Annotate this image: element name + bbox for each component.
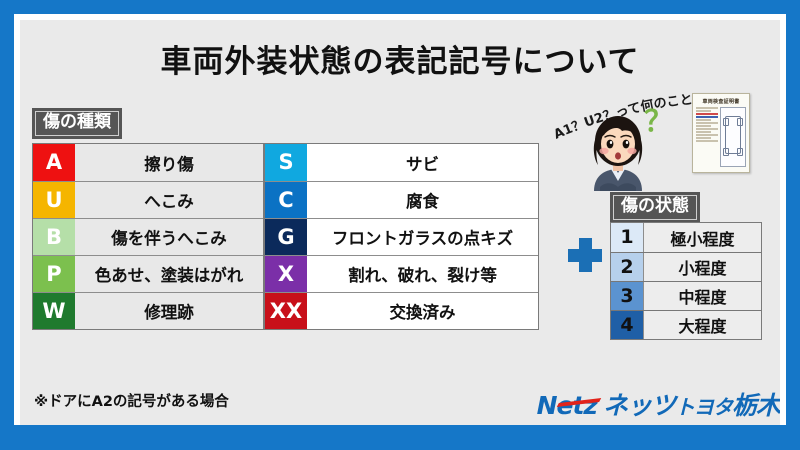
description-cell: 腐食: [307, 182, 538, 218]
inspection-certificate-thumbnail: 車両検査証明書: [692, 93, 750, 173]
netz-toyota-tochigi-logo: Netz ネッツトヨタ栃木: [532, 388, 780, 422]
table-row: XX 交換済み: [265, 292, 538, 329]
table-row: 1 極小程度: [611, 223, 761, 252]
certificate-title: 車両検査証明書: [696, 98, 746, 105]
certificate-body: [696, 107, 746, 167]
section-badge-damage-kind: 傷の種類: [32, 108, 122, 139]
symbol-cell: 1: [611, 223, 644, 252]
table-row: U へこみ: [33, 181, 263, 218]
symbol-cell: 3: [611, 282, 644, 310]
table-row: G フロントガラスの点キズ: [265, 218, 538, 255]
netz-brand-text: Netz: [537, 393, 597, 418]
table-row: P 色あせ、塗装はがれ: [33, 255, 263, 292]
description-cell: 極小程度: [644, 223, 761, 252]
table-row: A 擦り傷: [33, 144, 263, 181]
description-cell: 割れ、破れ、裂け等: [307, 256, 538, 292]
dealer-name-region: 栃木: [732, 391, 780, 420]
symbol-cell: S: [265, 144, 307, 181]
description-cell: 大程度: [644, 311, 761, 339]
slide-canvas: 車両外装状態の表記記号について A1？U2？って何のこと？ ？: [20, 20, 780, 425]
description-cell: へこみ: [75, 182, 263, 218]
section-badge-damage-state: 傷の状態: [610, 192, 700, 223]
illustration-group: A1？U2？って何のこと？ ？: [540, 75, 780, 190]
damage-degree-table: 1 極小程度 2 小程度 3 中程度 4 大程度: [610, 222, 762, 340]
symbol-cell: G: [265, 219, 307, 255]
dealer-name-kana: ネッツ: [603, 391, 675, 420]
table-row: B 傷を伴うへこみ: [33, 218, 263, 255]
description-cell: サビ: [307, 144, 538, 181]
symbol-cell: 2: [611, 253, 644, 281]
symbol-cell: X: [265, 256, 307, 292]
symbol-cell: W: [33, 293, 75, 329]
plus-icon: [568, 238, 602, 272]
symbol-cell: P: [33, 256, 75, 292]
certificate-left-column: [696, 107, 718, 167]
certificate-car-diagram: [720, 107, 746, 167]
symbol-cell: 4: [611, 311, 644, 339]
damage-kind-table: A 擦り傷 U へこみ B 傷を伴うへこみ P 色あせ、塗装はがれ W 修理跡: [32, 143, 264, 330]
table-row: 4 大程度: [611, 310, 761, 339]
description-cell: 交換済み: [307, 293, 538, 329]
description-cell: 擦り傷: [75, 144, 263, 181]
slide-frame: 車両外装状態の表記記号について A1？U2？って何のこと？ ？: [0, 0, 800, 450]
symbol-cell: A: [33, 144, 75, 181]
person-illustration: [580, 113, 656, 191]
symbol-cell: XX: [265, 293, 307, 329]
table-row: 3 中程度: [611, 281, 761, 310]
damage-type-table: S サビ C 腐食 G フロントガラスの点キズ X 割れ、破れ、裂け等 XX 交…: [264, 143, 539, 330]
symbol-cell: U: [33, 182, 75, 218]
table-row: X 割れ、破れ、裂け等: [265, 255, 538, 292]
footnote-example: ※ドアにA2の記号がある場合 A＝擦り傷 ＋ 2＝小程度 →小程度の擦り傷がある: [34, 350, 229, 425]
table-row: 2 小程度: [611, 252, 761, 281]
table-row: S サビ: [265, 144, 538, 181]
description-cell: 色あせ、塗装はがれ: [75, 256, 263, 292]
description-cell: 傷を伴うへこみ: [75, 219, 263, 255]
footnote-line-1: ※ドアにA2の記号がある場合: [34, 392, 229, 413]
description-cell: 小程度: [644, 253, 761, 281]
description-cell: 中程度: [644, 282, 761, 310]
dealer-name-kana-small: トヨタ: [675, 395, 732, 419]
symbol-cell: B: [33, 219, 75, 255]
description-cell: フロントガラスの点キズ: [307, 219, 538, 255]
table-row: C 腐食: [265, 181, 538, 218]
dealer-name-text: ネッツトヨタ栃木: [603, 393, 780, 418]
table-row: W 修理跡: [33, 292, 263, 329]
description-cell: 修理跡: [75, 293, 263, 329]
symbol-cell: C: [265, 182, 307, 218]
